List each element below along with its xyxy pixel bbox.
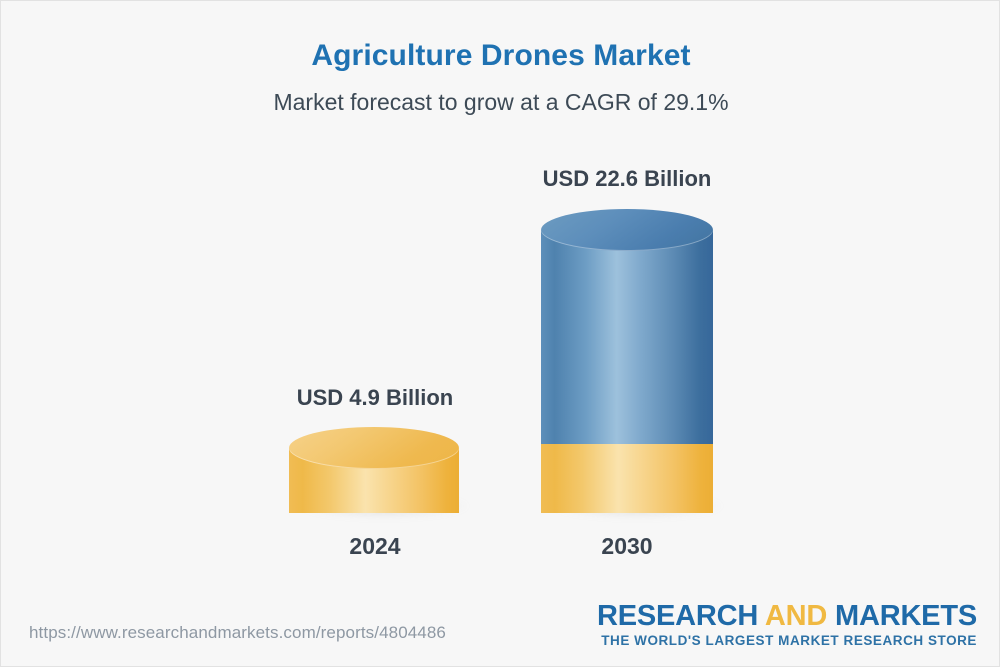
brand-logo-wordmark: RESEARCH AND MARKETS [597, 601, 977, 632]
cylinder-2030[interactable] [541, 209, 713, 513]
cylinder-2024[interactable] [289, 427, 459, 513]
infographic-canvas: Agriculture Drones Market Market forecas… [0, 0, 1000, 667]
brand-logo-tagline: THE WORLD'S LARGEST MARKET RESEARCH STOR… [597, 633, 977, 649]
cylinder-body-2030 [541, 230, 713, 513]
bar-category-label-2030: 2030 [487, 533, 767, 560]
bar-chart: USD 4.9 Billion 2024 USD 22.6 Billion [1, 1, 1000, 601]
brand-logo[interactable]: RESEARCH AND MARKETS THE WORLD'S LARGEST… [597, 601, 977, 649]
cylinder-top-ellipse-2024 [289, 427, 459, 469]
cylinder-top-ellipse-2030 [541, 209, 713, 251]
bar-value-label-2024: USD 4.9 Billion [235, 385, 515, 411]
bar-value-label-2030: USD 22.6 Billion [487, 166, 767, 192]
cylinder-segment-blue-2030 [541, 230, 713, 444]
brand-logo-word-markets: MARKETS [835, 600, 977, 632]
report-url[interactable]: https://www.researchandmarkets.com/repor… [29, 623, 446, 643]
brand-logo-word-research: RESEARCH [597, 600, 758, 632]
bar-category-label-2024: 2024 [235, 533, 515, 560]
brand-logo-word-and: AND [765, 600, 827, 632]
